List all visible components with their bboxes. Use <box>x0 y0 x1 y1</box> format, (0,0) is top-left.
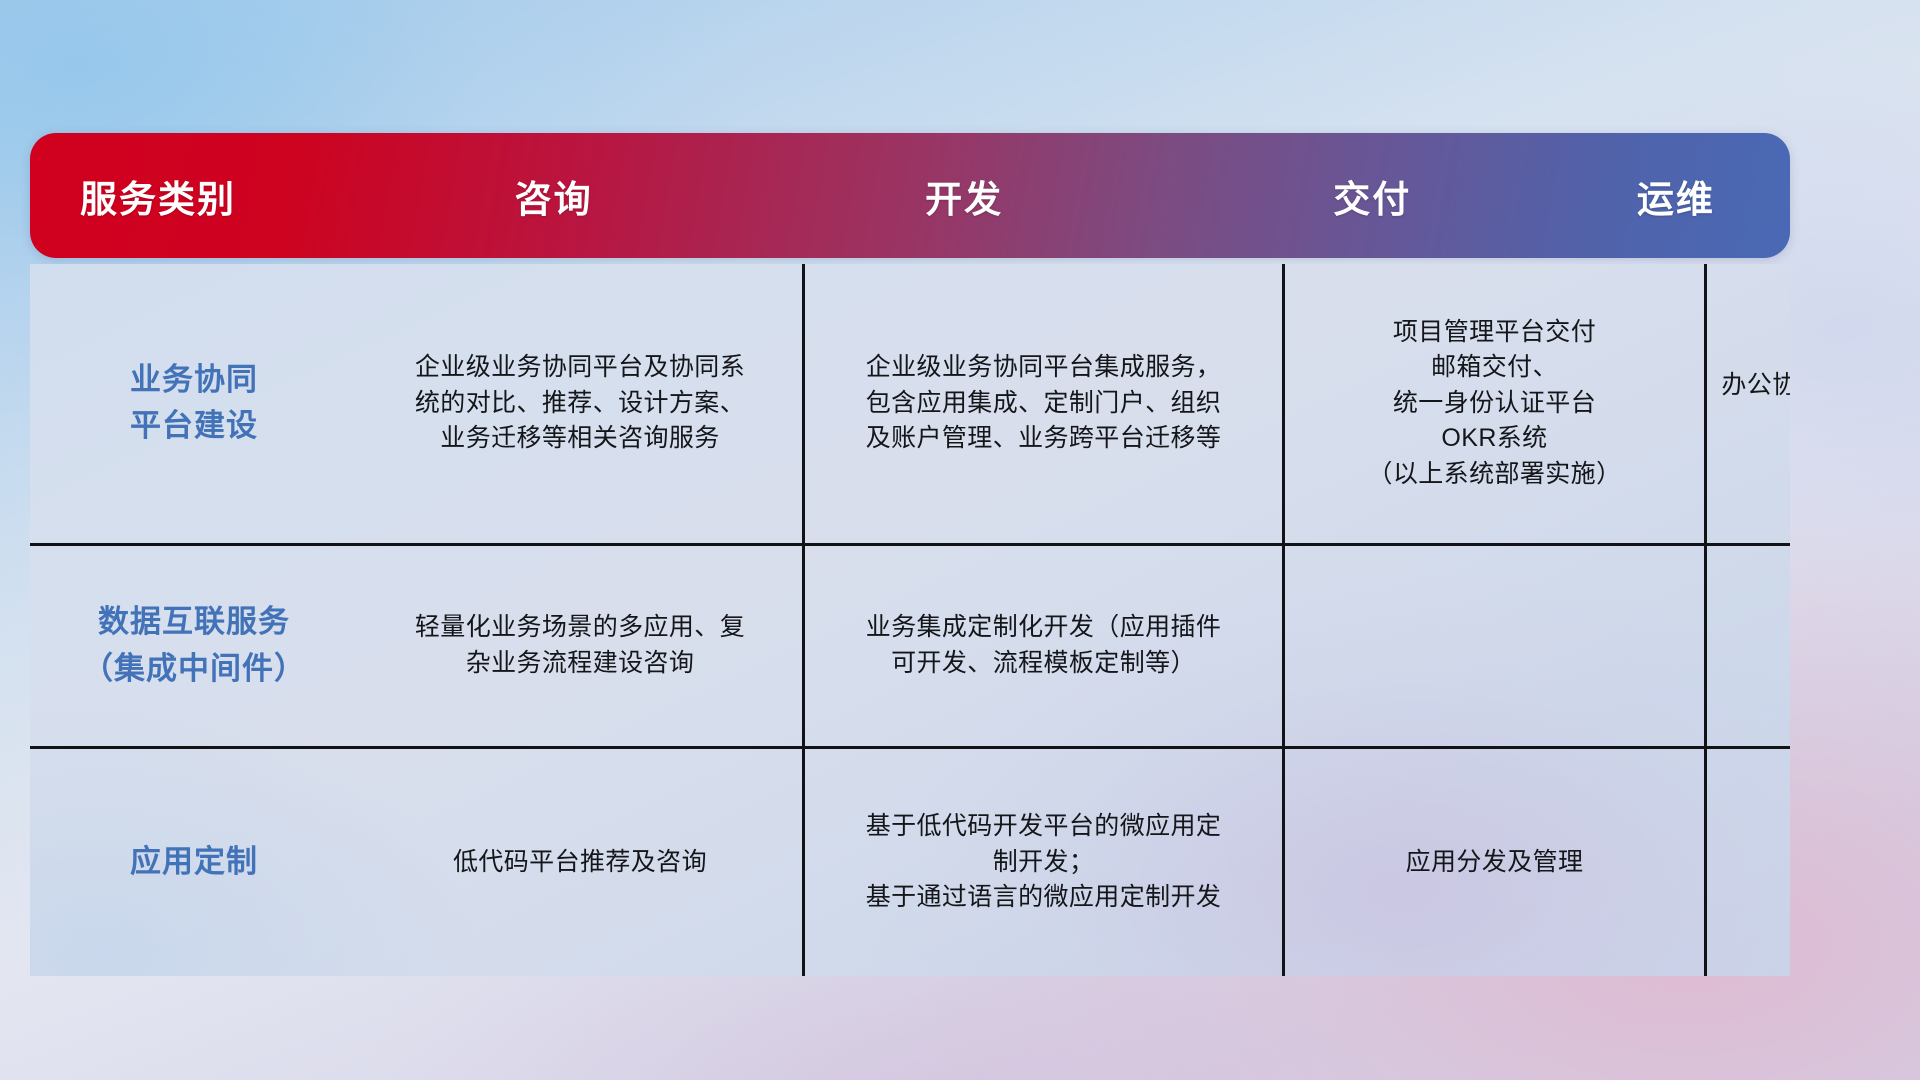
column-header-consulting: 咨询 <box>362 133 746 258</box>
cell-consulting: 低代码平台推荐及咨询 <box>358 747 804 976</box>
cell-text: 企业级业务协同平台集成服务， 包含应用集成、定制门户、组织 及账户管理、业务跨平… <box>819 350 1268 457</box>
column-header-category: 服务类别 <box>30 133 362 258</box>
column-header-delivery: 交付 <box>1183 133 1562 258</box>
cell-delivery: 应用分发及管理 <box>1284 747 1706 976</box>
row-category-label: 应用定制 <box>30 747 358 976</box>
table-row: 业务协同 平台建设 企业级业务协同平台及协同系 统的对比、推荐、设计方案、 业务… <box>30 264 1790 544</box>
cell-development: 基于低代码开发平台的微应用定 制开发； 基于通过语言的微应用定制开发 <box>804 747 1284 976</box>
table-header-bar: 服务类别 咨询 开发 交付 运维 <box>30 133 1790 258</box>
cell-operations <box>1706 747 1791 976</box>
cell-text: 业务协同 平台建设 <box>44 357 344 450</box>
cell-text: 数据互联服务 （集成中间件） <box>44 599 344 692</box>
cell-operations <box>1706 544 1791 747</box>
column-header-development: 开发 <box>746 133 1183 258</box>
table-row: 应用定制 低代码平台推荐及咨询 基于低代码开发平台的微应用定 制开发； 基于通过… <box>30 747 1790 976</box>
table-grid: 业务协同 平台建设 企业级业务协同平台及协同系 统的对比、推荐、设计方案、 业务… <box>30 264 1790 976</box>
cell-consulting: 企业级业务协同平台及协同系 统的对比、推荐、设计方案、 业务迁移等相关咨询服务 <box>358 264 804 544</box>
cell-text: 办公协同平台运营服务 <box>1721 368 1790 439</box>
row-category-label: 业务协同 平台建设 <box>30 264 358 544</box>
column-header-operations: 运维 <box>1562 133 1790 258</box>
service-matrix-table: 服务类别 咨询 开发 交付 运维 业务协同 平台建设 企业级业务协同平台及协同系… <box>30 133 1790 976</box>
cell-text: 基于低代码开发平台的微应用定 制开发； 基于通过语言的微应用定制开发 <box>819 809 1268 916</box>
table-row: 数据互联服务 （集成中间件） 轻量化业务场景的多应用、复 杂业务流程建设咨询 业… <box>30 544 1790 747</box>
cell-text: 业务集成定制化开发（应用插件 可开发、流程模板定制等） <box>819 610 1268 681</box>
cell-text: 项目管理平台交付 邮箱交付、 统一身份认证平台 OKR系统 （以上系统部署实施） <box>1299 315 1690 493</box>
table-body-panel: 业务协同 平台建设 企业级业务协同平台及协同系 统的对比、推荐、设计方案、 业务… <box>30 264 1790 976</box>
cell-text: 企业级业务协同平台及协同系 统的对比、推荐、设计方案、 业务迁移等相关咨询服务 <box>372 350 788 457</box>
cell-consulting: 轻量化业务场景的多应用、复 杂业务流程建设咨询 <box>358 544 804 747</box>
cell-text: 应用定制 <box>44 839 344 886</box>
cell-text: 轻量化业务场景的多应用、复 杂业务流程建设咨询 <box>372 610 788 681</box>
cell-text: 应用分发及管理 <box>1299 845 1690 881</box>
cell-development: 业务集成定制化开发（应用插件 可开发、流程模板定制等） <box>804 544 1284 747</box>
cell-operations: 办公协同平台运营服务 <box>1706 264 1791 544</box>
cell-delivery <box>1284 544 1706 747</box>
cell-development: 企业级业务协同平台集成服务， 包含应用集成、定制门户、组织 及账户管理、业务跨平… <box>804 264 1284 544</box>
cell-text: 低代码平台推荐及咨询 <box>372 845 788 881</box>
cell-delivery: 项目管理平台交付 邮箱交付、 统一身份认证平台 OKR系统 （以上系统部署实施） <box>1284 264 1706 544</box>
row-category-label: 数据互联服务 （集成中间件） <box>30 544 358 747</box>
